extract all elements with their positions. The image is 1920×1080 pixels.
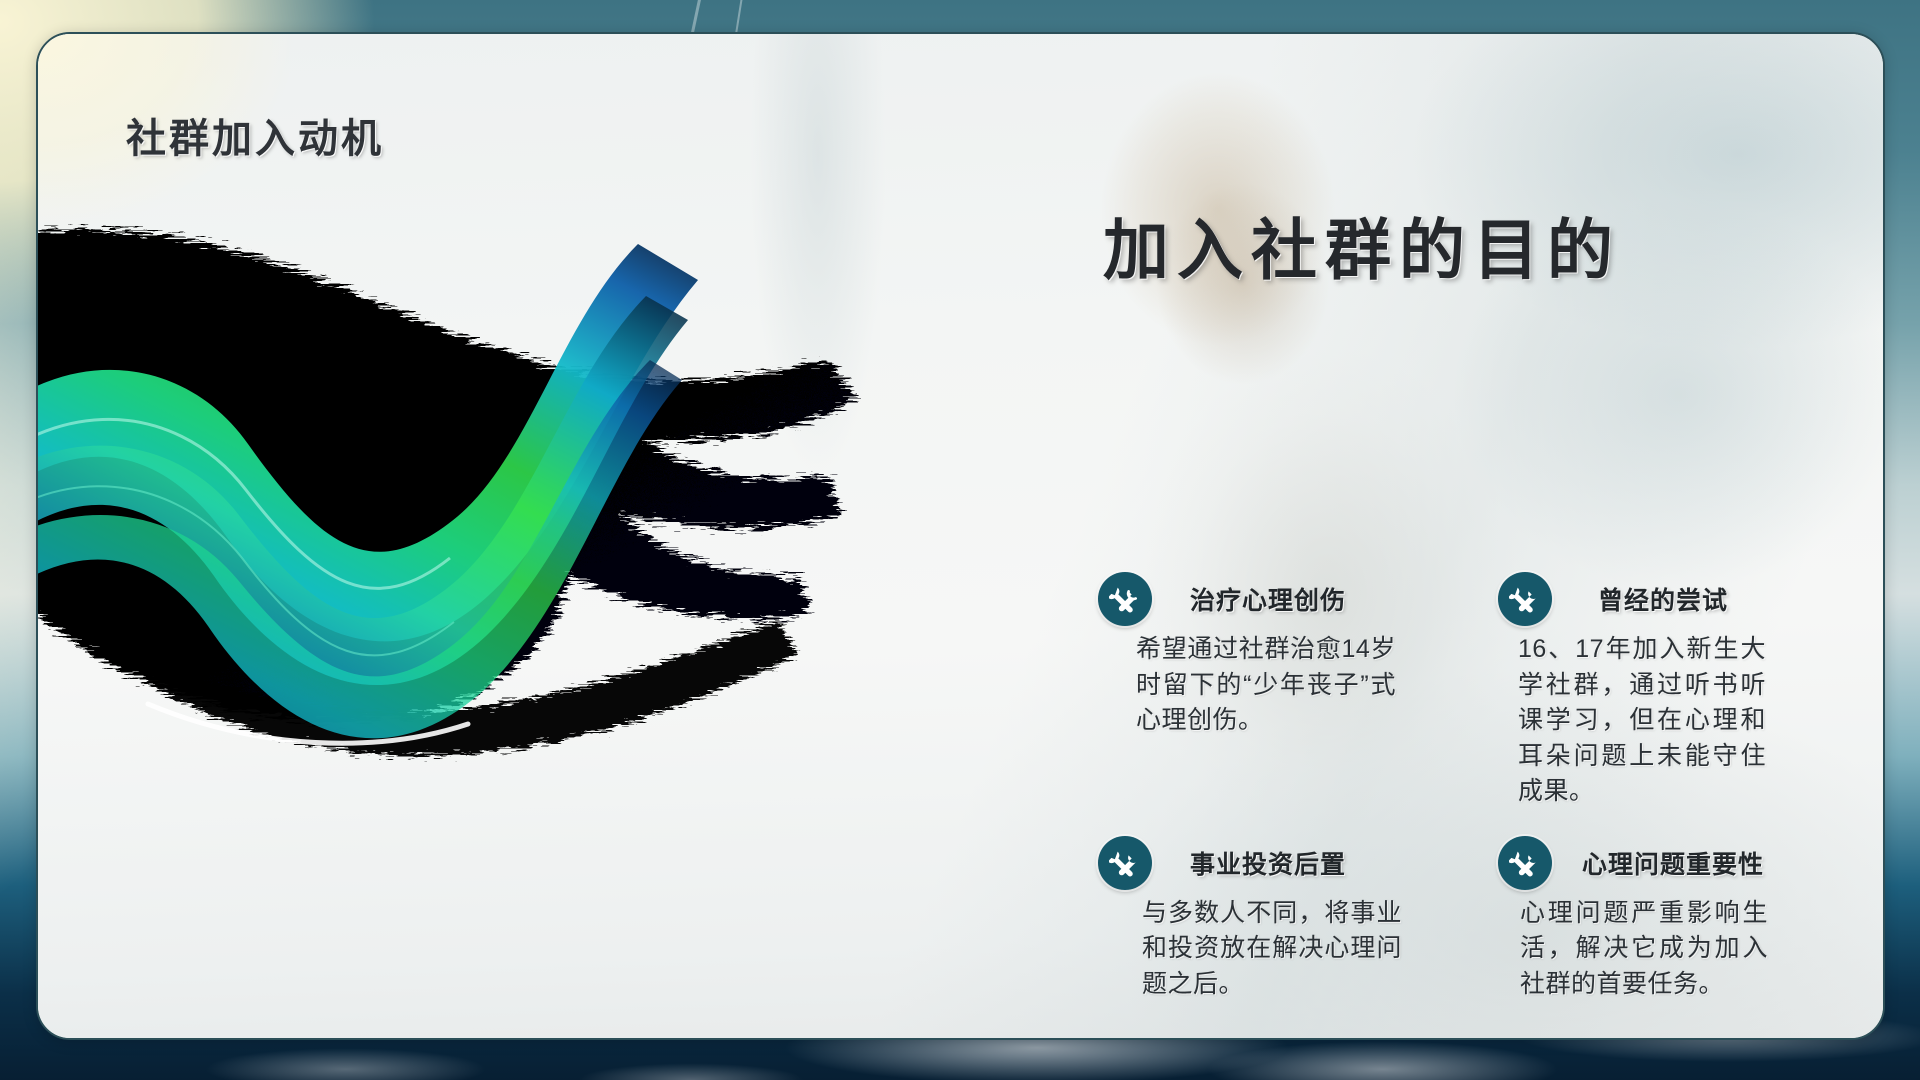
card-title: 事业投资后置 [1190,845,1346,881]
slide-stage: 社群加入动机 加入社群的目的 治疗心理创伤 希望通过社群治愈14岁时留下的“少年… [0,0,1920,1080]
card-title: 治疗心理创伤 [1190,581,1346,617]
card-title: 曾经的尝试 [1598,581,1728,617]
card-title: 心理问题重要性 [1582,845,1764,881]
purpose-card: 事业投资后置 与多数人不同，将事业和投资放在解决心理问题之后。 [1098,832,1498,1003]
page-title: 加入社群的目的 [1103,197,1621,293]
slide-frame: 社群加入动机 加入社群的目的 治疗心理创伤 希望通过社群治愈14岁时留下的“少年… [36,32,1885,1040]
purpose-card: 心理问题重要性 心理问题严重影响生活，解决它成为加入社群的首要任务。 [1498,832,1858,1003]
card-body: 与多数人不同，将事业和投资放在解决心理问题之后。 [1142,896,1402,1003]
card-header: 曾经的尝试 [1498,568,1858,630]
card-body: 希望通过社群治愈14岁时留下的“少年丧子”式心理创伤。 [1136,632,1396,739]
card-body: 16、17年加入新生大学社群，通过听书听课学习，但在心理和耳朵问题上未能守住成果… [1518,632,1766,810]
card-header: 心理问题重要性 [1498,832,1858,894]
section-kicker: 社群加入动机 [126,106,384,164]
tools-icon [1498,836,1552,890]
purpose-card-grid: 治疗心理创伤 希望通过社群治愈14岁时留下的“少年丧子”式心理创伤。 曾经的尝试… [1098,568,1858,1002]
tools-icon [1098,836,1152,890]
purpose-card: 曾经的尝试 16、17年加入新生大学社群，通过听书听课学习，但在心理和耳朵问题上… [1498,568,1858,810]
purpose-card: 治疗心理创伤 希望通过社群治愈14岁时留下的“少年丧子”式心理创伤。 [1098,568,1498,810]
card-body: 心理问题严重影响生活，解决它成为加入社群的首要任务。 [1520,896,1768,1003]
tools-icon [1098,572,1152,626]
card-header: 治疗心理创伤 [1098,568,1498,630]
card-header: 事业投资后置 [1098,832,1498,894]
tools-icon [1498,572,1552,626]
